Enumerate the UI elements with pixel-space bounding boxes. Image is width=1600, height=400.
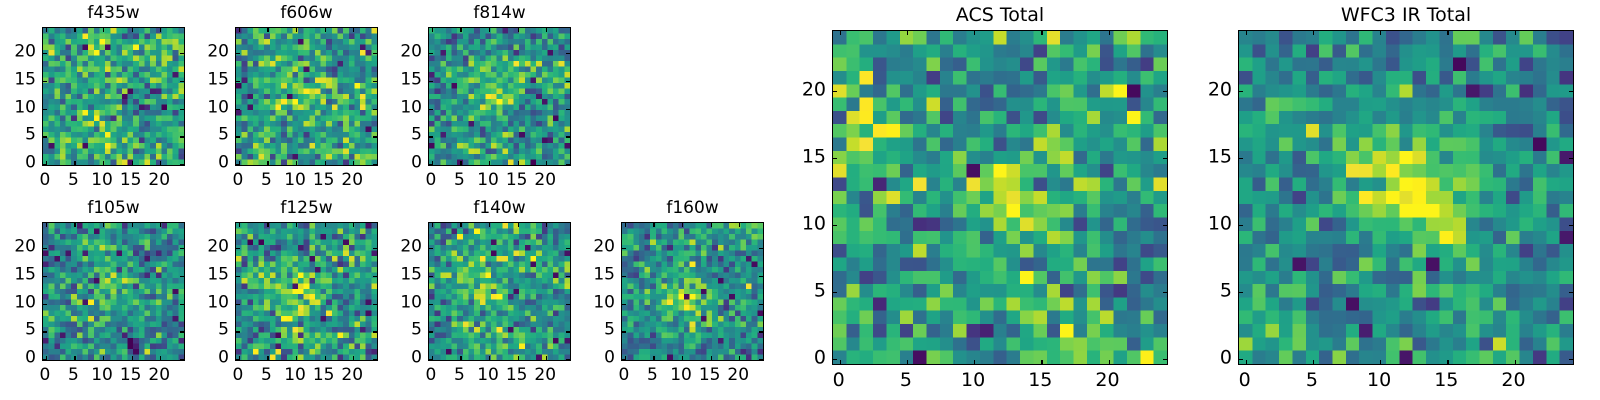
xtick-top-10-f160w: [682, 223, 683, 227]
xtick-top-10-f140w: [489, 223, 490, 227]
panel-f160w: f160w0055101015152020: [621, 198, 764, 387]
heatmap-image-f105w: [43, 223, 184, 360]
xtick-top-0-f435w: [46, 28, 47, 32]
ytick-label-10-f125w: 10: [189, 294, 229, 311]
xtick-top-15-f140w: [518, 223, 519, 227]
xtick-top-5-f435w: [74, 28, 75, 32]
heatmap-axes-f160w[interactable]: [621, 222, 764, 361]
xtick-top-5-f814w: [460, 28, 461, 32]
ytick-label-20-f140w: 20: [382, 239, 422, 256]
xtick-top-0-f140w: [432, 223, 433, 227]
ytick-15-f606w: [236, 81, 240, 82]
xtick-15-f160w: [711, 356, 712, 360]
xtick-label-15-f814w: 15: [506, 172, 528, 189]
ytick-5-f140w: [429, 331, 433, 332]
xtick-label-15-f606w: 15: [313, 172, 335, 189]
xtick-top-20-acs_total: [1109, 31, 1110, 35]
heatmap-image-f160w: [622, 223, 763, 360]
heatmap-axes-f814w[interactable]: [428, 27, 571, 166]
ytick-label-5-f435w: 5: [0, 127, 36, 144]
heatmap-axes-f105w[interactable]: [42, 222, 185, 361]
ytick-right-0-f125w: [373, 359, 377, 360]
xtick-label-10-f435w: 10: [91, 172, 113, 189]
xtick-0-acs_total: [840, 360, 841, 364]
xtick-top-5-f140w: [460, 223, 461, 227]
panel-f814w: f814w0055101015152020: [428, 3, 571, 192]
xtick-top-10-f814w: [489, 28, 490, 32]
ytick-right-15-f160w: [759, 276, 763, 277]
xtick-label-0-f435w: 0: [39, 172, 50, 189]
ytick-label-15-wfc3_ir_total: 15: [1192, 148, 1232, 167]
xtick-label-20-f160w: 20: [727, 367, 749, 384]
xtick-top-20-f435w: [160, 28, 161, 32]
ytick-label-0-f814w: 0: [382, 155, 422, 172]
xtick-10-acs_total: [974, 360, 975, 364]
ytick-right-0-wfc3_ir_total: [1569, 359, 1573, 360]
ytick-15-acs_total: [833, 158, 837, 159]
xtick-5-f125w: [267, 356, 268, 360]
xtick-20-acs_total: [1109, 360, 1110, 364]
xtick-label-5-f435w: 5: [68, 172, 79, 189]
heatmap-axes-acs_total[interactable]: [832, 30, 1168, 365]
xtick-5-f160w: [653, 356, 654, 360]
ytick-label-20-f160w: 20: [575, 239, 615, 256]
ytick-label-10-f140w: 10: [382, 294, 422, 311]
xtick-top-15-wfc3_ir_total: [1447, 31, 1448, 35]
ytick-20-f814w: [429, 53, 433, 54]
panel-title-wfc3_ir_total: WFC3 IR Total: [1238, 6, 1574, 25]
xtick-20-f125w: [353, 356, 354, 360]
xtick-10-f814w: [489, 161, 490, 165]
ytick-5-wfc3_ir_total: [1239, 292, 1243, 293]
xtick-top-0-wfc3_ir_total: [1246, 31, 1247, 35]
ytick-label-15-f160w: 15: [575, 266, 615, 283]
ytick-label-20-f105w: 20: [0, 239, 36, 256]
ytick-10-f814w: [429, 109, 433, 110]
xtick-top-10-acs_total: [974, 31, 975, 35]
heatmap-axes-f125w[interactable]: [235, 222, 378, 361]
xtick-top-10-f435w: [103, 28, 104, 32]
ytick-right-10-f125w: [373, 304, 377, 305]
ytick-right-20-f105w: [180, 248, 184, 249]
ytick-15-f435w: [43, 81, 47, 82]
xtick-20-f160w: [739, 356, 740, 360]
ytick-label-15-f814w: 15: [382, 71, 422, 88]
ytick-10-f160w: [622, 304, 626, 305]
ytick-label-20-f435w: 20: [0, 44, 36, 61]
xtick-top-5-f160w: [653, 223, 654, 227]
ytick-label-5-f140w: 5: [382, 322, 422, 339]
panel-title-f606w: f606w: [235, 5, 378, 22]
xtick-20-f814w: [546, 161, 547, 165]
xtick-15-f125w: [325, 356, 326, 360]
xtick-10-f140w: [489, 356, 490, 360]
xtick-top-10-f606w: [296, 28, 297, 32]
xtick-label-5-f125w: 5: [261, 367, 272, 384]
xtick-label-10-f160w: 10: [670, 367, 692, 384]
xtick-5-f606w: [267, 161, 268, 165]
xtick-top-10-wfc3_ir_total: [1380, 31, 1381, 35]
ytick-right-15-f606w: [373, 81, 377, 82]
ytick-label-0-f140w: 0: [382, 350, 422, 367]
xtick-top-5-f606w: [267, 28, 268, 32]
panel-f435w: f435w0055101015152020: [42, 3, 185, 192]
xtick-top-10-f125w: [296, 223, 297, 227]
xtick-label-20-wfc3_ir_total: 20: [1501, 371, 1525, 390]
xtick-top-0-f160w: [625, 223, 626, 227]
xtick-5-f435w: [74, 161, 75, 165]
figure-canvas: f435w0055101015152020f606w00551010151520…: [0, 0, 1600, 400]
xtick-top-5-acs_total: [907, 31, 908, 35]
ytick-label-15-f435w: 15: [0, 71, 36, 88]
ytick-right-5-f140w: [566, 331, 570, 332]
ytick-5-f606w: [236, 136, 240, 137]
xtick-label-20-f814w: 20: [534, 172, 556, 189]
panel-f140w: f140w0055101015152020: [428, 198, 571, 387]
xtick-top-0-f125w: [239, 223, 240, 227]
panel-f125w: f125w0055101015152020: [235, 198, 378, 387]
ytick-label-5-f160w: 5: [575, 322, 615, 339]
ytick-right-20-f140w: [566, 248, 570, 249]
xtick-15-acs_total: [1041, 360, 1042, 364]
ytick-0-f160w: [622, 359, 626, 360]
xtick-top-20-f814w: [546, 28, 547, 32]
ytick-label-10-acs_total: 10: [786, 215, 826, 234]
ytick-20-f435w: [43, 53, 47, 54]
ytick-right-10-acs_total: [1163, 225, 1167, 226]
ytick-5-f160w: [622, 331, 626, 332]
xtick-label-15-f125w: 15: [313, 367, 335, 384]
ytick-right-5-acs_total: [1163, 292, 1167, 293]
heatmap-axes-f140w[interactable]: [428, 222, 571, 361]
xtick-label-10-acs_total: 10: [961, 371, 985, 390]
ytick-label-0-f160w: 0: [575, 350, 615, 367]
xtick-label-20-acs_total: 20: [1095, 371, 1119, 390]
ytick-15-f160w: [622, 276, 626, 277]
xtick-label-10-wfc3_ir_total: 10: [1367, 371, 1391, 390]
ytick-right-5-f606w: [373, 136, 377, 137]
panel-title-f814w: f814w: [428, 5, 571, 22]
xtick-15-f140w: [518, 356, 519, 360]
xtick-20-f140w: [546, 356, 547, 360]
xtick-label-15-acs_total: 15: [1028, 371, 1052, 390]
xtick-top-15-f160w: [711, 223, 712, 227]
xtick-top-20-f140w: [546, 223, 547, 227]
xtick-10-f435w: [103, 161, 104, 165]
xtick-5-f140w: [460, 356, 461, 360]
xtick-15-f814w: [518, 161, 519, 165]
ytick-0-f125w: [236, 359, 240, 360]
xtick-top-0-f606w: [239, 28, 240, 32]
ytick-5-f814w: [429, 136, 433, 137]
xtick-10-f160w: [682, 356, 683, 360]
heatmap-image-f606w: [236, 28, 377, 165]
ytick-10-f105w: [43, 304, 47, 305]
panel-f105w: f105w0055101015152020: [42, 198, 185, 387]
ytick-label-0-acs_total: 0: [786, 349, 826, 368]
xtick-label-10-f814w: 10: [477, 172, 499, 189]
xtick-top-0-f105w: [46, 223, 47, 227]
ytick-label-20-acs_total: 20: [786, 81, 826, 100]
xtick-top-15-f814w: [518, 28, 519, 32]
xtick-top-20-f606w: [353, 28, 354, 32]
ytick-20-f125w: [236, 248, 240, 249]
xtick-label-5-f606w: 5: [261, 172, 272, 189]
xtick-10-f125w: [296, 356, 297, 360]
ytick-right-15-f140w: [566, 276, 570, 277]
heatmap-axes-f606w[interactable]: [235, 27, 378, 166]
xtick-label-0-f606w: 0: [232, 172, 243, 189]
ytick-5-f105w: [43, 331, 47, 332]
xtick-label-15-f435w: 15: [120, 172, 142, 189]
xtick-label-15-f105w: 15: [120, 367, 142, 384]
xtick-20-wfc3_ir_total: [1515, 360, 1516, 364]
ytick-right-20-acs_total: [1163, 91, 1167, 92]
ytick-10-wfc3_ir_total: [1239, 225, 1243, 226]
xtick-top-10-f105w: [103, 223, 104, 227]
xtick-top-15-acs_total: [1041, 31, 1042, 35]
xtick-label-0-acs_total: 0: [833, 371, 845, 390]
heatmap-image-wfc3_ir_total: [1239, 31, 1573, 364]
ytick-15-f814w: [429, 81, 433, 82]
xtick-top-15-f435w: [132, 28, 133, 32]
xtick-top-0-f814w: [432, 28, 433, 32]
heatmap-axes-wfc3_ir_total[interactable]: [1238, 30, 1574, 365]
ytick-10-f125w: [236, 304, 240, 305]
ytick-15-f125w: [236, 276, 240, 277]
xtick-label-0-f814w: 0: [425, 172, 436, 189]
ytick-label-20-f606w: 20: [189, 44, 229, 61]
panel-title-f435w: f435w: [42, 5, 185, 22]
xtick-top-20-f125w: [353, 223, 354, 227]
panel-title-f125w: f125w: [235, 200, 378, 217]
ytick-right-0-f105w: [180, 359, 184, 360]
ytick-20-f606w: [236, 53, 240, 54]
xtick-5-f105w: [74, 356, 75, 360]
ytick-right-10-f160w: [759, 304, 763, 305]
xtick-5-wfc3_ir_total: [1313, 360, 1314, 364]
ytick-label-10-f160w: 10: [575, 294, 615, 311]
xtick-15-f606w: [325, 161, 326, 165]
ytick-label-5-wfc3_ir_total: 5: [1192, 282, 1232, 301]
heatmap-image-f435w: [43, 28, 184, 165]
xtick-label-5-acs_total: 5: [900, 371, 912, 390]
ytick-5-f435w: [43, 136, 47, 137]
ytick-15-wfc3_ir_total: [1239, 158, 1243, 159]
ytick-right-10-f606w: [373, 109, 377, 110]
ytick-right-15-wfc3_ir_total: [1569, 158, 1573, 159]
xtick-15-f435w: [132, 161, 133, 165]
ytick-10-f435w: [43, 109, 47, 110]
ytick-right-20-f125w: [373, 248, 377, 249]
ytick-right-15-f105w: [180, 276, 184, 277]
ytick-right-10-wfc3_ir_total: [1569, 225, 1573, 226]
xtick-5-f814w: [460, 161, 461, 165]
ytick-5-acs_total: [833, 292, 837, 293]
xtick-label-5-f160w: 5: [647, 367, 658, 384]
ytick-right-5-f814w: [566, 136, 570, 137]
xtick-label-20-f105w: 20: [148, 367, 170, 384]
ytick-right-15-f814w: [566, 81, 570, 82]
ytick-right-5-f105w: [180, 331, 184, 332]
ytick-20-f105w: [43, 248, 47, 249]
ytick-right-10-f105w: [180, 304, 184, 305]
ytick-right-5-f125w: [373, 331, 377, 332]
ytick-label-10-f606w: 10: [189, 99, 229, 116]
heatmap-image-f125w: [236, 223, 377, 360]
ytick-label-5-f814w: 5: [382, 127, 422, 144]
ytick-0-f435w: [43, 164, 47, 165]
ytick-right-0-f140w: [566, 359, 570, 360]
ytick-label-15-acs_total: 15: [786, 148, 826, 167]
ytick-20-f140w: [429, 248, 433, 249]
ytick-label-10-f814w: 10: [382, 99, 422, 116]
xtick-top-5-f125w: [267, 223, 268, 227]
xtick-label-0-f105w: 0: [39, 367, 50, 384]
xtick-10-f606w: [296, 161, 297, 165]
ytick-right-10-f140w: [566, 304, 570, 305]
ytick-label-20-f814w: 20: [382, 44, 422, 61]
xtick-top-15-f125w: [325, 223, 326, 227]
xtick-20-f105w: [160, 356, 161, 360]
xtick-top-5-wfc3_ir_total: [1313, 31, 1314, 35]
ytick-label-10-wfc3_ir_total: 10: [1192, 215, 1232, 234]
ytick-label-10-f105w: 10: [0, 294, 36, 311]
ytick-10-acs_total: [833, 225, 837, 226]
ytick-label-0-f435w: 0: [0, 155, 36, 172]
xtick-label-0-f160w: 0: [618, 367, 629, 384]
xtick-label-10-f105w: 10: [91, 367, 113, 384]
panel-title-f140w: f140w: [428, 200, 571, 217]
panel-acs_total: ACS Total0055101015152020: [832, 6, 1168, 391]
ytick-label-0-f606w: 0: [189, 155, 229, 172]
xtick-label-15-wfc3_ir_total: 15: [1434, 371, 1458, 390]
ytick-right-15-f435w: [180, 81, 184, 82]
xtick-label-20-f606w: 20: [341, 172, 363, 189]
ytick-0-acs_total: [833, 359, 837, 360]
ytick-0-f140w: [429, 359, 433, 360]
xtick-label-0-f140w: 0: [425, 367, 436, 384]
xtick-0-wfc3_ir_total: [1246, 360, 1247, 364]
ytick-label-15-f606w: 15: [189, 71, 229, 88]
ytick-label-5-f606w: 5: [189, 127, 229, 144]
ytick-right-5-f435w: [180, 136, 184, 137]
ytick-label-10-f435w: 10: [0, 99, 36, 116]
xtick-label-5-f140w: 5: [454, 367, 465, 384]
ytick-right-5-f160w: [759, 331, 763, 332]
ytick-0-wfc3_ir_total: [1239, 359, 1243, 360]
ytick-label-15-f140w: 15: [382, 266, 422, 283]
xtick-top-20-wfc3_ir_total: [1515, 31, 1516, 35]
ytick-10-f606w: [236, 109, 240, 110]
ytick-right-20-f606w: [373, 53, 377, 54]
ytick-right-20-f435w: [180, 53, 184, 54]
xtick-label-5-f105w: 5: [68, 367, 79, 384]
xtick-label-10-f140w: 10: [477, 367, 499, 384]
ytick-right-5-wfc3_ir_total: [1569, 292, 1573, 293]
xtick-label-15-f160w: 15: [699, 367, 721, 384]
xtick-top-20-f105w: [160, 223, 161, 227]
ytick-0-f105w: [43, 359, 47, 360]
ytick-right-15-acs_total: [1163, 158, 1167, 159]
panel-wfc3_ir_total: WFC3 IR Total0055101015152020: [1238, 6, 1574, 391]
heatmap-image-acs_total: [833, 31, 1167, 364]
ytick-right-15-f125w: [373, 276, 377, 277]
xtick-label-20-f435w: 20: [148, 172, 170, 189]
xtick-label-15-f140w: 15: [506, 367, 528, 384]
xtick-top-15-f105w: [132, 223, 133, 227]
ytick-label-5-f105w: 5: [0, 322, 36, 339]
xtick-10-f105w: [103, 356, 104, 360]
ytick-right-0-f606w: [373, 164, 377, 165]
xtick-10-wfc3_ir_total: [1380, 360, 1381, 364]
ytick-label-0-wfc3_ir_total: 0: [1192, 349, 1232, 368]
ytick-right-0-f160w: [759, 359, 763, 360]
heatmap-axes-f435w[interactable]: [42, 27, 185, 166]
xtick-label-5-wfc3_ir_total: 5: [1306, 371, 1318, 390]
xtick-label-20-f125w: 20: [341, 367, 363, 384]
xtick-label-20-f140w: 20: [534, 367, 556, 384]
ytick-label-20-f125w: 20: [189, 239, 229, 256]
xtick-label-0-f125w: 0: [232, 367, 243, 384]
xtick-15-f105w: [132, 356, 133, 360]
heatmap-image-f814w: [429, 28, 570, 165]
ytick-right-0-acs_total: [1163, 359, 1167, 360]
xtick-5-acs_total: [907, 360, 908, 364]
xtick-top-15-f606w: [325, 28, 326, 32]
ytick-0-f814w: [429, 164, 433, 165]
ytick-right-10-f814w: [566, 109, 570, 110]
xtick-label-10-f125w: 10: [284, 367, 306, 384]
ytick-label-15-f125w: 15: [189, 266, 229, 283]
ytick-label-0-f105w: 0: [0, 350, 36, 367]
ytick-15-f140w: [429, 276, 433, 277]
ytick-5-f125w: [236, 331, 240, 332]
ytick-label-5-f125w: 5: [189, 322, 229, 339]
ytick-0-f606w: [236, 164, 240, 165]
panel-title-f105w: f105w: [42, 200, 185, 217]
xtick-top-20-f160w: [739, 223, 740, 227]
xtick-15-wfc3_ir_total: [1447, 360, 1448, 364]
panel-f606w: f606w0055101015152020: [235, 3, 378, 192]
ytick-right-20-f814w: [566, 53, 570, 54]
ytick-right-10-f435w: [180, 109, 184, 110]
ytick-label-5-acs_total: 5: [786, 282, 826, 301]
xtick-20-f435w: [160, 161, 161, 165]
ytick-label-0-f125w: 0: [189, 350, 229, 367]
xtick-top-5-f105w: [74, 223, 75, 227]
xtick-label-5-f814w: 5: [454, 172, 465, 189]
ytick-label-20-wfc3_ir_total: 20: [1192, 81, 1232, 100]
ytick-15-f105w: [43, 276, 47, 277]
xtick-label-10-f606w: 10: [284, 172, 306, 189]
panel-title-acs_total: ACS Total: [832, 6, 1168, 25]
ytick-right-0-f435w: [180, 164, 184, 165]
heatmap-image-f140w: [429, 223, 570, 360]
xtick-label-0-wfc3_ir_total: 0: [1239, 371, 1251, 390]
ytick-10-f140w: [429, 304, 433, 305]
ytick-20-wfc3_ir_total: [1239, 91, 1243, 92]
ytick-right-20-wfc3_ir_total: [1569, 91, 1573, 92]
ytick-label-15-f105w: 15: [0, 266, 36, 283]
panel-title-f160w: f160w: [621, 200, 764, 217]
xtick-top-0-acs_total: [840, 31, 841, 35]
xtick-20-f606w: [353, 161, 354, 165]
ytick-right-20-f160w: [759, 248, 763, 249]
ytick-right-0-f814w: [566, 164, 570, 165]
ytick-20-acs_total: [833, 91, 837, 92]
ytick-20-f160w: [622, 248, 626, 249]
